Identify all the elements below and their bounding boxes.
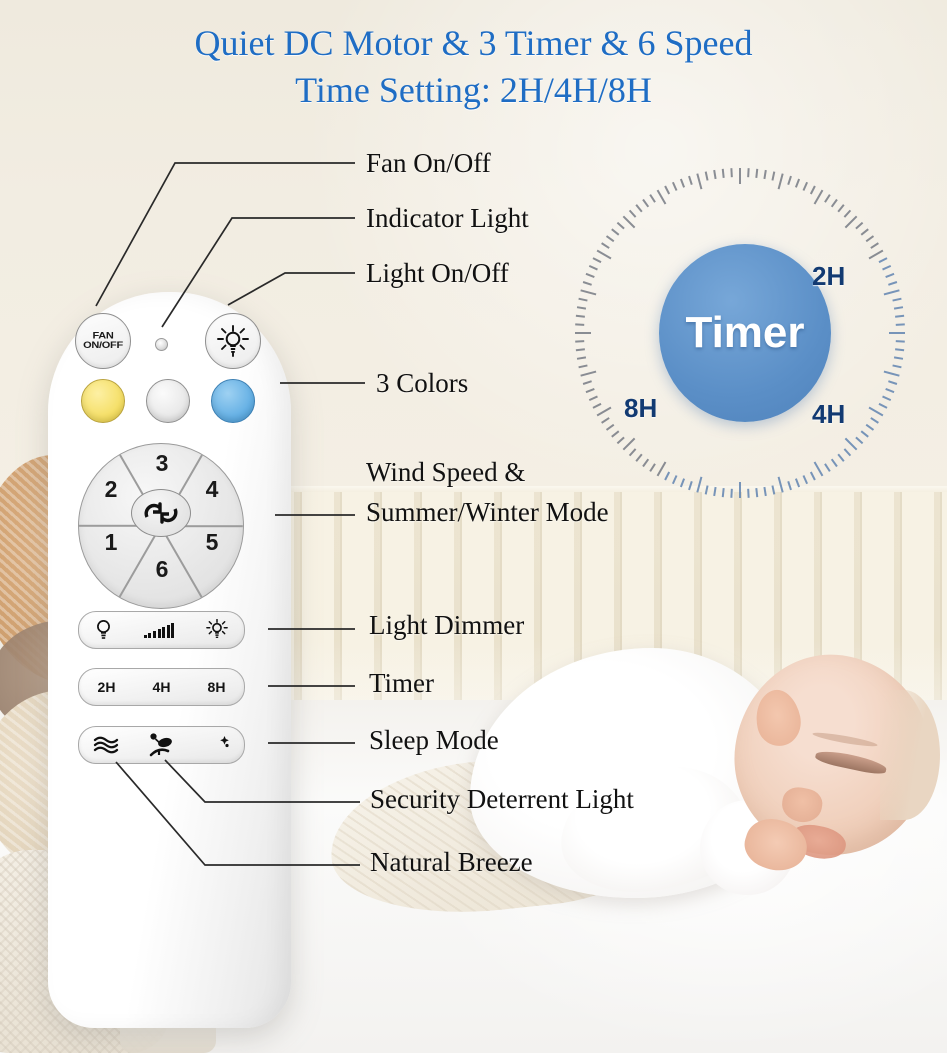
timer-tick <box>672 475 677 484</box>
timer-tick <box>824 463 831 472</box>
timer-tick <box>722 169 725 178</box>
timer-tick <box>649 463 656 472</box>
timer-tick <box>593 403 602 409</box>
timer-tick <box>730 489 732 498</box>
timer-tick <box>889 332 905 334</box>
timer-tick <box>771 485 775 494</box>
timer-tick <box>771 171 775 180</box>
timer-tick <box>892 298 901 302</box>
timer-tick <box>755 488 758 497</box>
timer-tick <box>866 424 874 431</box>
timer-tick <box>705 485 709 494</box>
timer-tick <box>861 228 869 235</box>
timer-tick <box>884 289 900 295</box>
callout-natural-breeze: Natural Breeze <box>370 847 533 878</box>
timer-tick <box>795 179 800 188</box>
timer-tick <box>629 210 637 218</box>
timer-tick <box>575 332 591 334</box>
speed-segment-5[interactable]: 5 <box>199 529 225 556</box>
timer-tick <box>642 199 649 207</box>
bulb-dim-icon <box>95 619 112 641</box>
timer-tick <box>763 170 766 179</box>
timer-tick <box>705 171 709 180</box>
timer-dial-graphic: Timer 2H 4H 8H <box>576 168 906 498</box>
timer-tick <box>739 482 741 498</box>
timer-tick <box>892 364 901 368</box>
timer-tick <box>747 168 749 177</box>
timer-tick <box>696 173 702 189</box>
timer-tick <box>869 407 884 417</box>
timer-tick <box>895 315 904 318</box>
timer-tick <box>814 190 824 205</box>
timer-tick <box>611 430 619 437</box>
timer-tick <box>642 459 649 467</box>
timer-tick <box>575 323 584 325</box>
timer-tick <box>577 306 586 309</box>
timer-tick <box>680 478 685 487</box>
natural-breeze-icon[interactable] <box>93 735 119 755</box>
title-line-2: Time Setting: 2H/4H/8H <box>0 67 947 114</box>
dimmer-level-bars <box>144 623 175 638</box>
timer-tick <box>831 199 838 207</box>
indicator-led <box>155 338 168 351</box>
timer-tick <box>583 281 592 286</box>
speed-segment-4[interactable]: 4 <box>199 476 225 503</box>
timer-tick <box>896 340 905 342</box>
timer-tick <box>611 228 619 235</box>
callout-indicator-light: Indicator Light <box>366 203 529 234</box>
timer-tick <box>894 356 903 359</box>
timer-tick <box>866 235 874 242</box>
light-on-off-button[interactable] <box>205 313 261 369</box>
timer-tick <box>884 371 900 377</box>
mode-button-row[interactable] <box>78 726 245 764</box>
timer-tick <box>763 487 766 496</box>
timer-tick <box>578 364 587 368</box>
timer-tick <box>601 417 610 424</box>
callout-3-colors: 3 Colors <box>376 368 468 399</box>
speed-segment-3[interactable]: 3 <box>149 450 175 477</box>
bulb-rays-icon <box>216 324 250 358</box>
timer-tick <box>885 388 894 393</box>
callout-wind-speed-line1: Wind Speed & <box>366 457 525 488</box>
timer-tick <box>580 289 596 295</box>
timer-mark-8h: 8H <box>624 393 657 424</box>
timer-tick <box>810 186 816 195</box>
color-button-warm-white[interactable] <box>81 379 125 423</box>
speed-segment-1[interactable]: 1 <box>98 529 124 556</box>
fan-on-off-button[interactable]: FAN ON/OFF <box>75 313 131 369</box>
timer-tick <box>586 273 595 278</box>
timer-option-8h[interactable]: 8H <box>208 679 226 695</box>
timer-tick <box>755 169 758 178</box>
timer-tick <box>713 487 716 496</box>
timer-tick <box>576 315 585 318</box>
timer-tick <box>894 306 903 309</box>
timer-tick <box>837 454 844 462</box>
color-button-cool-white[interactable] <box>211 379 255 423</box>
timer-tick <box>657 190 667 205</box>
timer-tick <box>896 323 905 325</box>
timer-tick <box>576 348 585 351</box>
timer-tick <box>580 371 596 377</box>
timer-tick <box>837 204 844 212</box>
timer-tick <box>722 488 725 497</box>
timer-tick <box>657 462 667 477</box>
timer-tick <box>869 250 884 260</box>
timer-tick <box>855 437 863 445</box>
timer-tick <box>861 430 869 437</box>
reverse-rotation-icon <box>143 500 179 526</box>
callout-sleep-mode: Sleep Mode <box>369 725 499 756</box>
timer-tick <box>713 170 716 179</box>
speed-segment-6[interactable]: 6 <box>149 556 175 583</box>
timer-disc-label: Timer <box>685 308 804 358</box>
timer-tick <box>578 298 587 302</box>
speed-segment-2[interactable]: 2 <box>98 476 124 503</box>
timer-button[interactable]: 2H 4H 8H <box>78 668 245 706</box>
timer-tick <box>664 472 670 481</box>
sleep-mode-icon[interactable] <box>204 733 230 757</box>
callout-light-dimmer: Light Dimmer <box>369 610 524 641</box>
callout-timer: Timer <box>369 668 434 699</box>
title-line-1: Quiet DC Motor & 3 Timer & 6 Speed <box>0 20 947 67</box>
timer-tick <box>688 176 693 185</box>
timer-tick <box>824 194 831 203</box>
timer-tick <box>885 273 894 278</box>
timer-tick <box>601 242 610 249</box>
timer-mark-4h: 4H <box>812 399 845 430</box>
timer-tick <box>617 222 625 230</box>
timer-tick <box>747 489 749 498</box>
timer-tick <box>895 348 904 351</box>
timer-tick <box>888 380 897 385</box>
timer-tick <box>593 257 602 263</box>
timer-tick <box>844 448 852 456</box>
timer-tick <box>597 407 612 417</box>
timer-tick <box>814 462 824 477</box>
timer-tick <box>649 194 656 203</box>
timer-tick <box>787 176 792 185</box>
timer-tick <box>629 448 637 456</box>
timer-tick <box>606 235 614 242</box>
timer-tick <box>635 454 642 462</box>
callout-security-deterrent: Security Deterrent Light <box>370 784 634 815</box>
light-dimmer-button[interactable] <box>78 611 245 649</box>
callout-fan-on-off: Fan On/Off <box>366 148 491 179</box>
timer-tick <box>606 424 614 431</box>
security-light-icon[interactable] <box>146 732 176 758</box>
timer-tick <box>870 417 879 424</box>
timer-tick <box>739 168 741 184</box>
bulb-bright-icon <box>206 619 228 641</box>
infographic-canvas: Quiet DC Motor & 3 Timer & 6 Speed Time … <box>0 0 947 1053</box>
callout-wind-speed-line2: Summer/Winter Mode <box>366 497 609 528</box>
timer-mark-2h: 2H <box>812 261 845 292</box>
color-button-daylight[interactable] <box>146 379 190 423</box>
timer-tick <box>635 204 642 212</box>
timer-tick <box>831 459 838 467</box>
page-title: Quiet DC Motor & 3 Timer & 6 Speed Time … <box>0 20 947 114</box>
timer-tick <box>787 481 792 490</box>
timer-tick <box>844 210 852 218</box>
timer-option-2h[interactable]: 2H <box>98 679 116 695</box>
timer-tick <box>730 168 732 177</box>
timer-tick <box>583 380 592 385</box>
timer-tick <box>845 438 858 451</box>
timer-tick <box>882 265 891 270</box>
fan-button-line2: ON/OFF <box>83 340 123 350</box>
timer-tick <box>696 477 702 493</box>
timer-tick <box>575 340 584 342</box>
timer-tick <box>879 257 888 263</box>
timer-tick <box>879 403 888 409</box>
timer-tick <box>589 265 598 270</box>
timer-tick <box>617 437 625 445</box>
timer-tick <box>586 388 595 393</box>
timer-tick <box>803 475 808 484</box>
timer-tick <box>882 396 891 401</box>
timer-tick <box>888 281 897 286</box>
timer-tick <box>664 186 670 195</box>
timer-tick <box>688 481 693 490</box>
reverse-direction-button[interactable] <box>131 489 191 537</box>
timer-tick <box>870 242 879 249</box>
timer-tick <box>803 182 808 191</box>
timer-tick <box>623 216 636 229</box>
timer-tick <box>855 222 863 230</box>
timer-tick <box>810 472 816 481</box>
timer-tick <box>589 396 598 401</box>
timer-tick <box>597 250 612 260</box>
callout-light-on-off: Light On/Off <box>366 258 509 289</box>
timer-tick <box>778 477 784 493</box>
timer-tick <box>672 182 677 191</box>
timer-option-4h[interactable]: 4H <box>153 679 171 695</box>
timer-tick <box>795 478 800 487</box>
timer-tick <box>680 179 685 188</box>
timer-disc: Timer <box>659 244 831 422</box>
timer-tick <box>778 173 784 189</box>
timer-tick <box>577 356 586 359</box>
